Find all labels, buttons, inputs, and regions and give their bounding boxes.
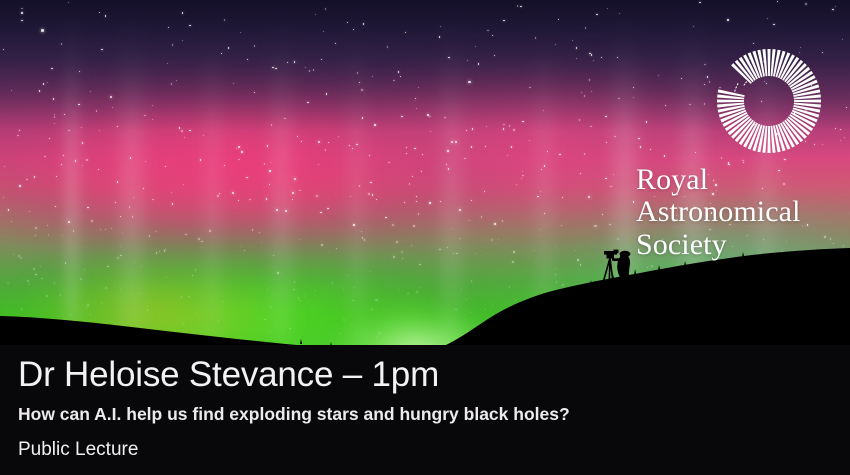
ras-logo: Royal Astronomical Society <box>636 44 842 261</box>
lecture-title: Dr Heloise Stevance – 1pm <box>18 357 850 392</box>
lecture-subtitle: How can A.I. help us find exploding star… <box>18 405 850 424</box>
logo-line-royal: Royal <box>636 164 842 196</box>
lecture-info-bar: Dr Heloise Stevance – 1pm How can A.I. h… <box>0 345 850 475</box>
sunburst-icon <box>712 44 826 158</box>
lecture-kind-label: Public Lecture <box>18 440 850 461</box>
ras-lecture-poster: Royal Astronomical Society Dr Heloise St… <box>0 0 850 475</box>
logo-line-astronomical: Astronomical <box>636 196 842 228</box>
ras-logo-wordmark: Royal Astronomical Society <box>636 164 842 261</box>
logo-line-society: Society <box>636 229 842 261</box>
